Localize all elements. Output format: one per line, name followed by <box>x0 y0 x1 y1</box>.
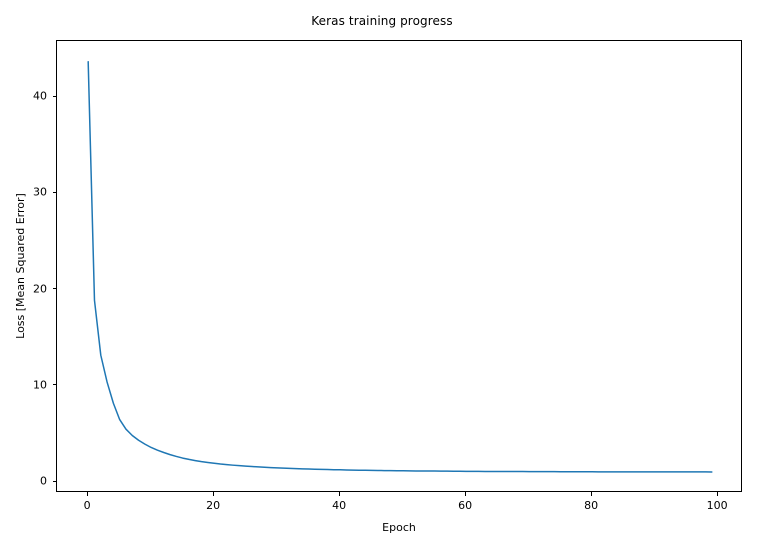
y-tick-mark <box>53 288 57 289</box>
y-tick-mark <box>53 192 57 193</box>
y-tick-label: 20 <box>0 282 47 295</box>
x-tick-mark <box>591 492 592 496</box>
x-axis-label: Epoch <box>56 521 742 534</box>
matplotlib-figure: Keras training progress Loss [Mean Squar… <box>0 0 764 547</box>
y-tick-label: 40 <box>0 90 47 103</box>
chart-title: Keras training progress <box>0 14 764 28</box>
x-tick-label: 20 <box>206 499 220 512</box>
x-tick-mark <box>87 492 88 496</box>
x-tick-mark <box>339 492 340 496</box>
x-tick-label: 80 <box>584 499 598 512</box>
y-tick-mark <box>53 96 57 97</box>
x-tick-label: 100 <box>707 499 728 512</box>
y-tick-mark <box>53 481 57 482</box>
y-tick-label: 0 <box>0 475 47 488</box>
y-tick-mark <box>53 384 57 385</box>
x-tick-label: 40 <box>332 499 346 512</box>
x-tick-mark <box>717 492 718 496</box>
y-axis-label: Loss [Mean Squared Error] <box>14 40 30 492</box>
x-tick-label: 0 <box>84 499 91 512</box>
y-tick-label: 30 <box>0 186 47 199</box>
x-tick-mark <box>213 492 214 496</box>
y-tick-label: 10 <box>0 378 47 391</box>
plot-axes-area <box>56 40 742 492</box>
loss-line-series <box>88 62 712 472</box>
x-tick-label: 60 <box>458 499 472 512</box>
loss-curve-svg <box>57 41 743 493</box>
x-tick-mark <box>465 492 466 496</box>
